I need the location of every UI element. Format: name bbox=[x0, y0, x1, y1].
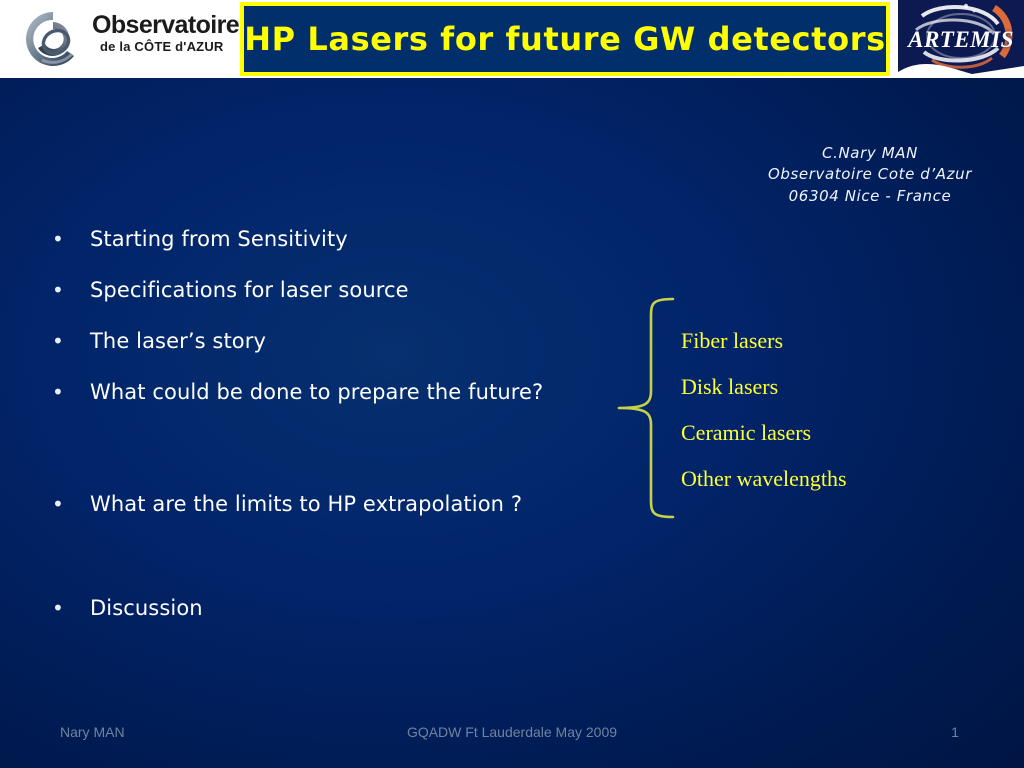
laser-types-list: Fiber lasers Disk lasers Ceramic lasers … bbox=[681, 318, 1001, 502]
laser-type-item: Fiber lasers bbox=[681, 318, 1001, 364]
slide-title-box: HP Lasers for future GW detectors bbox=[240, 2, 890, 76]
observatoire-wordmark: Observatoire de la CÔTE d'AZUR bbox=[92, 11, 238, 67]
observatoire-wordmark-line1: Observatoire bbox=[92, 11, 239, 40]
agenda-item-label: Specifications for laser source bbox=[90, 273, 560, 307]
bullet-icon: • bbox=[48, 375, 90, 409]
slide-title: HP Lasers for future GW detectors bbox=[244, 20, 886, 58]
presentation-slide: Observatoire de la CÔTE d'AZUR HP Lasers… bbox=[0, 0, 1024, 768]
list-item: • Discussion bbox=[48, 591, 608, 625]
list-item: • What are the limits to HP extrapolatio… bbox=[48, 487, 608, 521]
agenda-item-label: The laser’s story bbox=[90, 324, 560, 358]
artemis-logo: ARTEMIS bbox=[898, 0, 1024, 78]
agenda-item-label: What are the limits to HP extrapolation … bbox=[90, 487, 560, 521]
artemis-logo-text: ARTEMIS bbox=[898, 27, 1024, 53]
bullet-icon: • bbox=[48, 487, 90, 521]
author-location: 06304 Nice - France bbox=[735, 186, 1005, 207]
laser-type-item: Other wavelengths bbox=[681, 456, 1001, 502]
left-curly-brace-icon bbox=[615, 296, 677, 520]
slide-page-number: 1 bbox=[900, 724, 1010, 740]
observatoire-logo: Observatoire de la CÔTE d'AZUR bbox=[0, 0, 240, 78]
footer-event: GQADW Ft Lauderdale May 2009 bbox=[0, 724, 1024, 740]
author-name: C.Nary MAN bbox=[735, 143, 1005, 164]
bullet-icon: • bbox=[48, 324, 90, 358]
slide-header-band: Observatoire de la CÔTE d'AZUR HP Lasers… bbox=[0, 0, 1024, 78]
bullet-icon: • bbox=[48, 222, 90, 256]
author-block: C.Nary MAN Observatoire Cote d’Azur 0630… bbox=[735, 143, 1005, 207]
agenda-item-label: Starting from Sensitivity bbox=[90, 222, 560, 256]
list-item: • The laser’s story bbox=[48, 324, 608, 358]
observatoire-wordmark-line2: de la CÔTE d'AZUR bbox=[100, 39, 224, 54]
list-item: • Specifications for laser source bbox=[48, 273, 608, 307]
bullet-icon: • bbox=[48, 591, 90, 625]
author-institution: Observatoire Cote d’Azur bbox=[735, 164, 1005, 185]
agenda-item-label: What could be done to prepare the future… bbox=[90, 375, 560, 409]
laser-type-item: Ceramic lasers bbox=[681, 410, 1001, 456]
list-item: • Starting from Sensitivity bbox=[48, 222, 608, 256]
list-item: • What could be done to prepare the futu… bbox=[48, 375, 608, 409]
agenda-list: • Starting from Sensitivity • Specificat… bbox=[48, 222, 608, 642]
agenda-item-label: Discussion bbox=[90, 591, 560, 625]
slide-footer: Nary MAN GQADW Ft Lauderdale May 2009 1 bbox=[0, 718, 1024, 752]
laser-type-item: Disk lasers bbox=[681, 364, 1001, 410]
observatoire-swirl-icon bbox=[22, 8, 84, 70]
bullet-icon: • bbox=[48, 273, 90, 307]
